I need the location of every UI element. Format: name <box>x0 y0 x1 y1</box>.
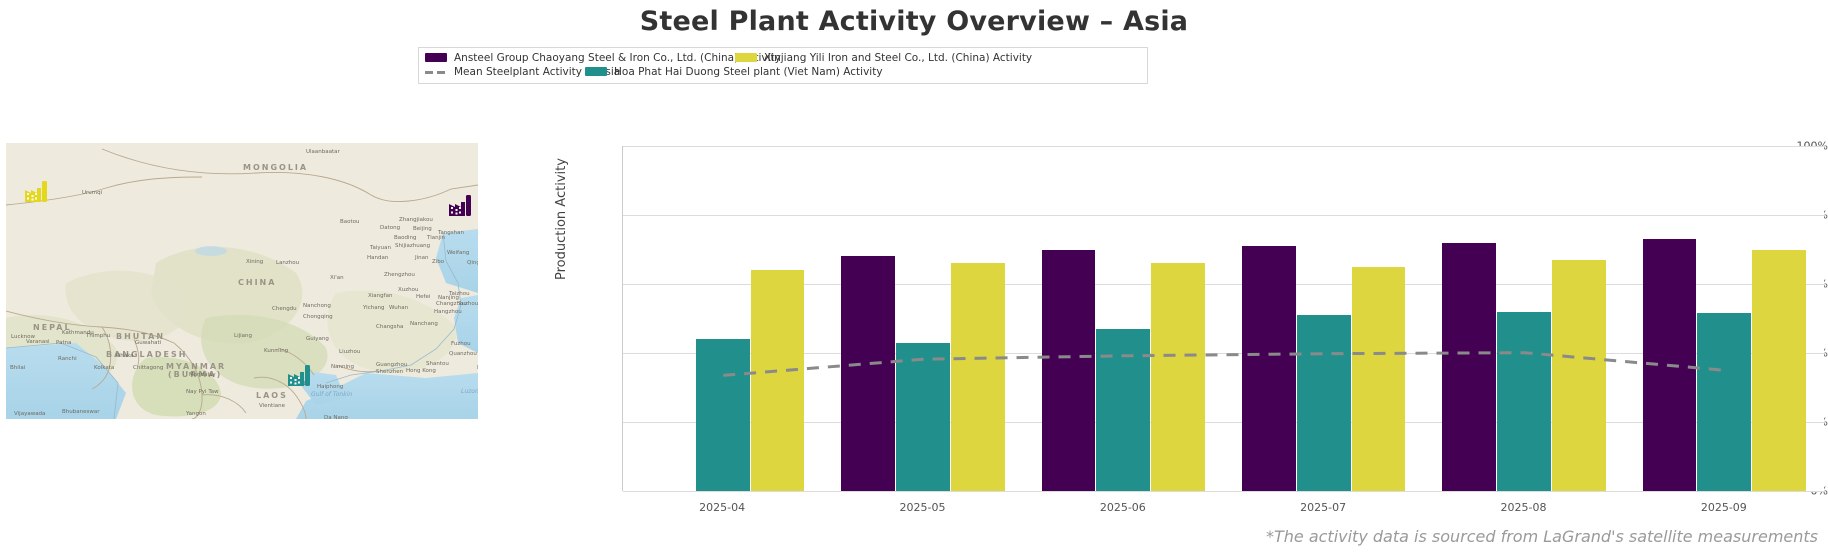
legend-item-label: Hoa Phat Hai Duong Steel plant (Viet Nam… <box>614 66 883 78</box>
x-axis-tick-label: 2025-06 <box>1100 501 1146 514</box>
map-basemap <box>6 143 478 419</box>
x-axis-tick-label: 2025-05 <box>900 501 946 514</box>
legend-color-swatch <box>425 53 447 62</box>
steel-plant-factory-icon[interactable] <box>24 181 50 203</box>
steel-plant-factory-icon[interactable] <box>287 365 313 387</box>
bar[interactable] <box>1042 250 1096 492</box>
gridline <box>623 491 1825 492</box>
legend-dashed-line-icon <box>425 67 447 76</box>
gridline <box>623 146 1825 147</box>
y-axis-label: Production Activity <box>554 158 569 280</box>
gridline <box>623 215 1825 216</box>
legend-item[interactable]: Xinjiang Yili Iron and Steel Co., Ltd. (… <box>735 51 985 64</box>
bar[interactable] <box>1643 239 1697 491</box>
legend-color-swatch <box>735 53 757 62</box>
plot-area <box>622 146 1824 491</box>
bar[interactable] <box>841 256 895 491</box>
bar[interactable] <box>1297 315 1351 491</box>
x-axis-tick-label: 2025-04 <box>699 501 745 514</box>
page-root: Steel Plant Activity Overview – Asia Ans… <box>0 0 1828 554</box>
bar[interactable] <box>1697 313 1751 491</box>
legend-item-label: Ansteel Group Chaoyang Steel & Iron Co.,… <box>454 52 781 64</box>
steel-plant-factory-icon[interactable] <box>448 195 474 217</box>
x-axis-tick-label: 2025-07 <box>1300 501 1346 514</box>
legend-item[interactable]: Ansteel Group Chaoyang Steel & Iron Co.,… <box>425 51 735 64</box>
bar[interactable] <box>1752 250 1806 492</box>
asia-map[interactable]: MONGOLIACHINANEPALBHUTANBANGLADESHMYANMA… <box>6 143 478 419</box>
legend-item[interactable]: Hoa Phat Hai Duong Steel plant (Viet Nam… <box>585 65 895 78</box>
legend-color-swatch <box>585 67 607 76</box>
chart-legend: Ansteel Group Chaoyang Steel & Iron Co.,… <box>418 47 1148 84</box>
page-title: Steel Plant Activity Overview – Asia <box>0 0 1828 37</box>
bar[interactable] <box>1497 312 1551 491</box>
bar[interactable] <box>1552 260 1606 491</box>
bar[interactable] <box>1151 263 1205 491</box>
footnote: *The activity data is sourced from LaGra… <box>1266 527 1818 546</box>
bar[interactable] <box>1242 246 1296 491</box>
bar[interactable] <box>896 343 950 491</box>
bar[interactable] <box>1352 267 1406 491</box>
x-axis-tick-label: 2025-09 <box>1701 501 1747 514</box>
legend-item[interactable]: Mean Steelplant Activity in Asia <box>425 65 585 78</box>
bar[interactable] <box>1096 329 1150 491</box>
bar[interactable] <box>751 270 805 491</box>
x-axis-tick-label: 2025-08 <box>1501 501 1547 514</box>
bar[interactable] <box>1442 243 1496 491</box>
legend-item-label: Xinjiang Yili Iron and Steel Co., Ltd. (… <box>764 52 1032 64</box>
bar[interactable] <box>951 263 1005 491</box>
bar[interactable] <box>696 339 750 491</box>
activity-bar-chart: Production Activity 0%20%40%60%80%100% 2… <box>560 130 1828 510</box>
